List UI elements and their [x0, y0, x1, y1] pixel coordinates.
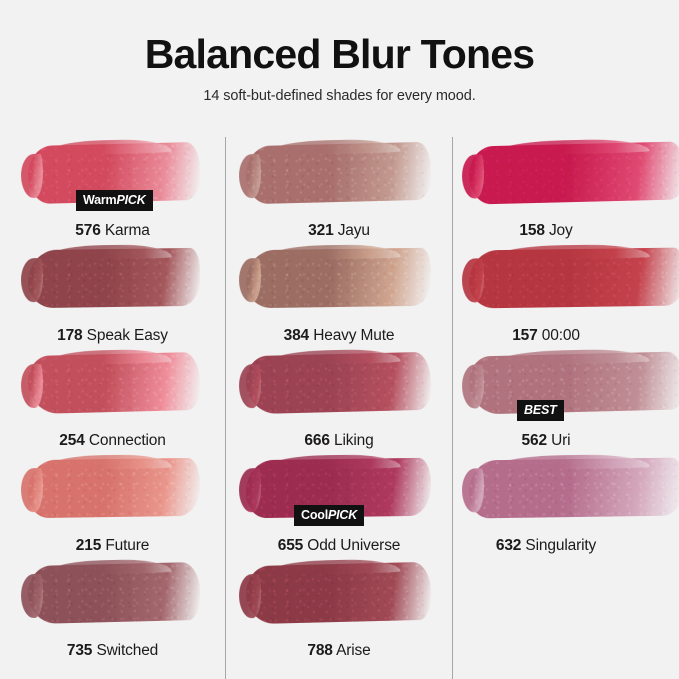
- shade-cell[interactable]: 321 Jayu: [226, 138, 452, 238]
- shade-name: Connection: [85, 432, 166, 449]
- shade-cell[interactable]: 735 Switched: [0, 558, 225, 658]
- shade-name: Arise: [333, 642, 371, 659]
- shade-name: Switched: [92, 642, 158, 659]
- shade-swatch[interactable]: [0, 558, 225, 630]
- shade-number: 632: [496, 537, 521, 554]
- shade-badge: CoolPICK: [294, 505, 364, 526]
- shade-cell[interactable]: 254 Connection: [0, 348, 225, 448]
- shade-name: Jayu: [334, 222, 370, 239]
- swatch-texture: [27, 352, 200, 414]
- shade-swatch[interactable]: [453, 243, 679, 315]
- shade-number: 158: [519, 222, 544, 239]
- shade-badge: WarmPICK: [76, 190, 153, 211]
- swatch-color: [469, 458, 679, 519]
- swatch-color: [28, 458, 201, 518]
- column-2: 321 Jayu384 Heavy Mute666 LikingCoolPICK…: [226, 120, 452, 679]
- shade-label: 254 Connection: [0, 432, 225, 450]
- shade-name: Joy: [545, 222, 573, 239]
- shade-columns: WarmPICK576 Karma178 Speak Easy254 Conne…: [0, 120, 679, 679]
- shade-name: Future: [101, 537, 149, 554]
- swatch-texture: [468, 351, 679, 414]
- shade-label: 666 Liking: [226, 432, 452, 450]
- shade-number: 254: [59, 432, 84, 449]
- shade-number: 321: [308, 222, 333, 239]
- badge-italic-text: PICK: [328, 508, 357, 522]
- shade-label: 157 00:00: [453, 327, 639, 345]
- shade-label: 576 Karma: [0, 222, 225, 240]
- swatch-texture: [468, 141, 679, 204]
- shade-cell[interactable]: WarmPICK576 Karma: [0, 138, 225, 238]
- swatch-texture: [28, 248, 201, 308]
- shade-number: 157: [512, 327, 537, 344]
- shade-cell[interactable]: 788 Arise: [226, 558, 452, 658]
- shade-name: 00:00: [538, 327, 580, 344]
- swatch-color: [27, 352, 200, 414]
- badge-italic-text: PICK: [116, 193, 145, 207]
- shade-name: Speak Easy: [83, 327, 168, 344]
- swatch-color: [245, 352, 431, 415]
- swatch-texture: [245, 352, 431, 415]
- shade-number: 178: [57, 327, 82, 344]
- swatch-texture: [469, 458, 679, 519]
- shade-name: Karma: [101, 222, 150, 239]
- shade-name: Liking: [330, 432, 374, 449]
- shade-label: 178 Speak Easy: [0, 327, 225, 345]
- swatch-texture: [245, 562, 431, 625]
- shade-cell[interactable]: 632 Singularity: [453, 453, 679, 553]
- shade-cell[interactable]: CoolPICK655 Odd Universe: [226, 453, 452, 553]
- shade-swatch[interactable]: [0, 453, 225, 525]
- swatch-texture: [27, 562, 200, 624]
- badge-bold-text: Warm: [83, 193, 116, 207]
- shade-label: 735 Switched: [0, 642, 225, 660]
- shade-label: 384 Heavy Mute: [226, 327, 452, 345]
- shade-chart-page: Balanced Blur Tones 14 soft-but-defined …: [0, 0, 679, 679]
- shade-name: Singularity: [521, 537, 596, 554]
- shade-swatch[interactable]: [226, 138, 452, 210]
- shade-swatch[interactable]: [453, 138, 679, 210]
- shade-name: Heavy Mute: [309, 327, 394, 344]
- page-header: Balanced Blur Tones 14 soft-but-defined …: [0, 0, 679, 120]
- shade-number: 666: [304, 432, 329, 449]
- shade-swatch[interactable]: [0, 243, 225, 315]
- swatch-texture: [245, 142, 431, 205]
- shade-label: 655 Odd Universe: [226, 537, 452, 555]
- shade-swatch[interactable]: [453, 348, 679, 420]
- swatch-color: [468, 351, 679, 414]
- swatch-texture: [246, 248, 432, 309]
- badge-italic-text: BEST: [524, 403, 557, 417]
- shade-number: 788: [307, 642, 332, 659]
- shade-label: 788 Arise: [226, 642, 452, 660]
- column-1: WarmPICK576 Karma178 Speak Easy254 Conne…: [0, 120, 225, 679]
- shade-name: Uri: [547, 432, 571, 449]
- shade-cell[interactable]: 215 Future: [0, 453, 225, 553]
- shade-label: 632 Singularity: [453, 537, 639, 555]
- shade-swatch[interactable]: [226, 348, 452, 420]
- shade-swatch[interactable]: [226, 558, 452, 630]
- shade-number: 735: [67, 642, 92, 659]
- shade-cell[interactable]: 158 Joy: [453, 138, 679, 238]
- shade-name: Odd Universe: [303, 537, 400, 554]
- swatch-texture: [469, 248, 679, 309]
- shade-label: 215 Future: [0, 537, 225, 555]
- shade-label: 158 Joy: [453, 222, 639, 240]
- shade-number: 215: [76, 537, 101, 554]
- page-subtitle: 14 soft-but-defined shades for every moo…: [0, 88, 679, 104]
- shade-label: 562 Uri: [453, 432, 639, 450]
- shade-cell[interactable]: 157 00:00: [453, 243, 679, 343]
- shade-swatch[interactable]: [453, 453, 679, 525]
- swatch-color: [28, 248, 201, 308]
- swatch-color: [468, 141, 679, 204]
- shade-badge: BEST: [517, 400, 564, 421]
- badge-bold-text: Cool: [301, 508, 328, 522]
- shade-number: 576: [75, 222, 100, 239]
- swatch-texture: [28, 458, 201, 518]
- shade-label: 321 Jayu: [226, 222, 452, 240]
- shade-number: 655: [278, 537, 303, 554]
- shade-swatch[interactable]: [226, 243, 452, 315]
- shade-cell[interactable]: 384 Heavy Mute: [226, 243, 452, 343]
- page-title: Balanced Blur Tones: [0, 34, 679, 75]
- swatch-color: [469, 248, 679, 309]
- swatch-color: [245, 562, 431, 625]
- swatch-color: [245, 142, 431, 205]
- swatch-color: [27, 562, 200, 624]
- column-3: 158 Joy157 00:00BEST562 Uri632 Singulari…: [453, 120, 679, 679]
- shade-swatch[interactable]: [0, 348, 225, 420]
- shade-number: 562: [522, 432, 547, 449]
- shade-cell[interactable]: 178 Speak Easy: [0, 243, 225, 343]
- shade-cell[interactable]: 666 Liking: [226, 348, 452, 448]
- swatch-color: [246, 248, 432, 309]
- shade-cell[interactable]: BEST562 Uri: [453, 348, 679, 448]
- shade-number: 384: [284, 327, 309, 344]
